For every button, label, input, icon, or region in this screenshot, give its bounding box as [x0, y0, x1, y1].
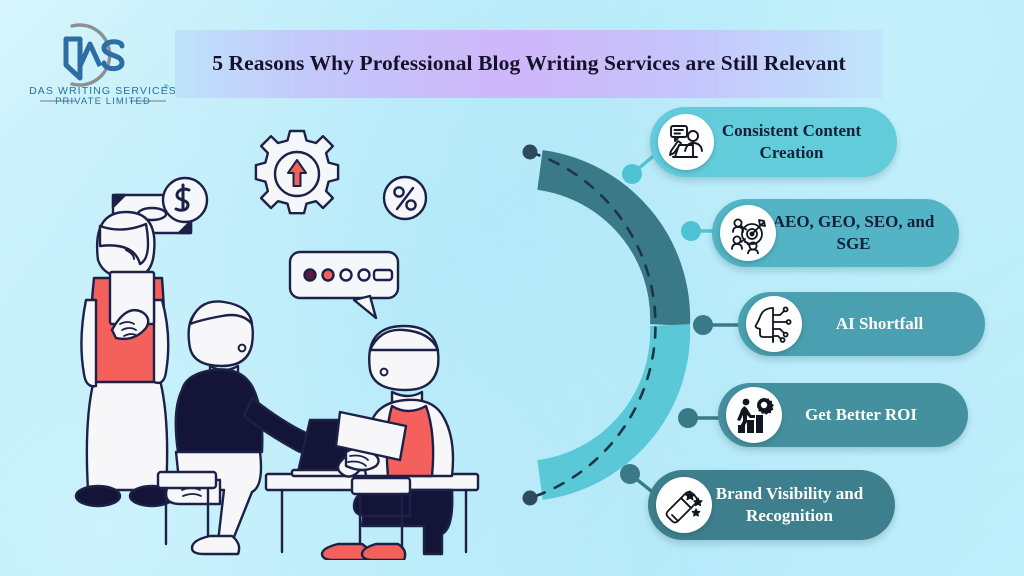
title-banner: 5 Reasons Why Professional Blog Writing … [175, 30, 883, 98]
gear-arrow-up-icon [256, 131, 338, 213]
seated-man-laptop [158, 301, 314, 554]
page-title: 5 Reasons Why Professional Blog Writing … [212, 49, 846, 79]
connector-dot-1 [622, 164, 642, 184]
connector-dot-5 [620, 464, 640, 484]
growth-steps-gear-icon [726, 387, 782, 443]
registered-mark-icon: ® [164, 84, 169, 91]
brand-logo: DAS WRITING SERVICES ® PRIVATE LIMITED [28, 8, 178, 104]
reason-item-4[interactable]: Get Better ROI [718, 383, 968, 447]
infographic-canvas: DAS WRITING SERVICES ® PRIVATE LIMITED 5… [0, 0, 1024, 576]
reason-item-5[interactable]: Brand Visibility and Recognition [648, 470, 895, 540]
reason-item-3[interactable]: AI Shortfall [738, 292, 985, 356]
team-meeting-illustration [70, 100, 500, 560]
chat-bubble-icon [290, 252, 398, 318]
reason-item-1[interactable]: Consistent Content Creation [650, 107, 897, 177]
arc-lower-segment [540, 325, 670, 480]
megaphone-stars-icon [656, 477, 712, 533]
connector-dot-2 [681, 221, 701, 241]
arc-upper-segment [540, 170, 670, 325]
standing-woman [76, 212, 174, 506]
connector-dot-4 [678, 408, 698, 428]
connector-dot-3 [693, 315, 713, 335]
das-monogram-icon [50, 25, 122, 85]
ai-brain-head-icon [746, 296, 802, 352]
progress-arc [520, 130, 740, 520]
reason-item-2[interactable]: AEO, GEO, SEO, and SGE [712, 199, 959, 267]
percent-icon [384, 177, 426, 219]
content-writing-icon [658, 114, 714, 170]
audience-target-icon [720, 205, 776, 261]
arc-end-dot-top [523, 145, 538, 160]
seated-person-papers [322, 326, 453, 560]
arc-end-dot-bottom [523, 491, 538, 506]
